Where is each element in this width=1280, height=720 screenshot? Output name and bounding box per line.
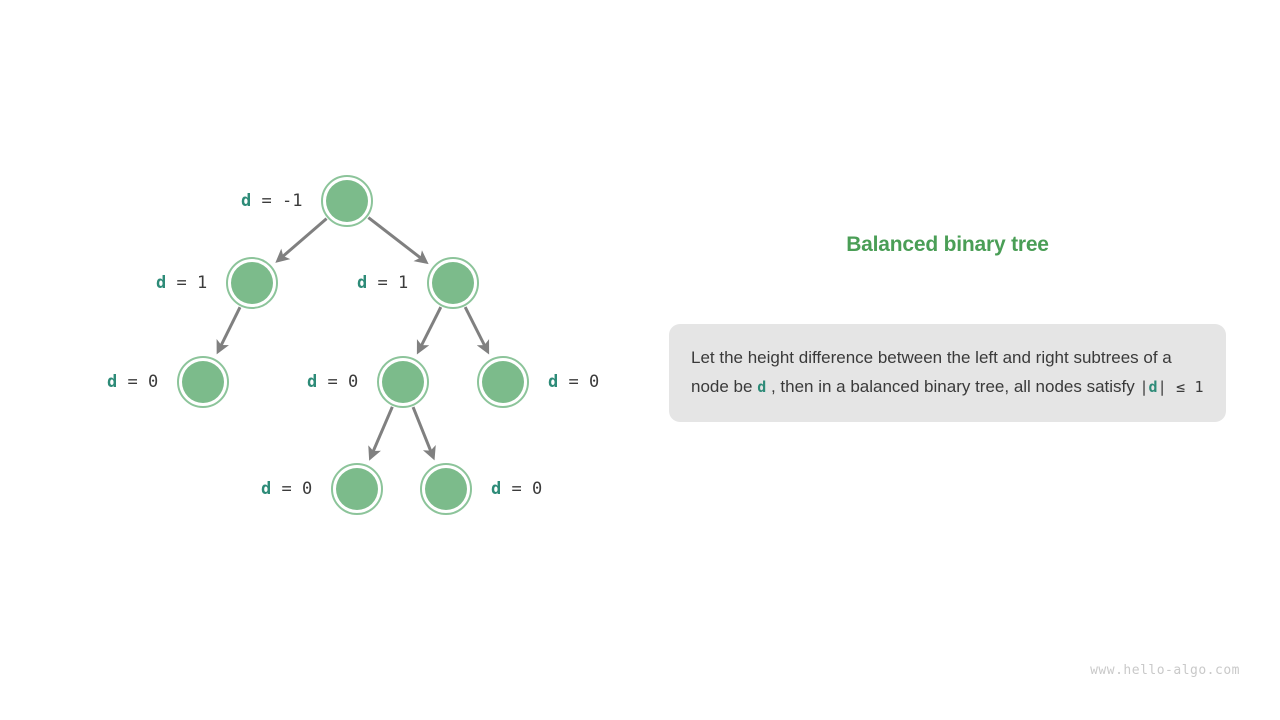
node-label-value: = 0 (317, 372, 358, 392)
tree-node (226, 257, 278, 309)
node-label-value: = 0 (558, 372, 599, 392)
tree-node (427, 257, 479, 309)
tree-node-label: d = 0 (107, 372, 158, 392)
node-label-variable: d (241, 191, 251, 211)
node-label-variable: d (548, 372, 558, 392)
node-label-value: = 0 (117, 372, 158, 392)
node-label-value: = -1 (251, 191, 302, 211)
page-title: Balanced binary tree (669, 233, 1226, 257)
node-label-variable: d (491, 479, 501, 499)
node-label-variable: d (307, 372, 317, 392)
site-watermark: www.hello-algo.com (1090, 663, 1240, 678)
tree-edge (419, 307, 441, 351)
node-label-variable: d (261, 479, 271, 499)
tree-edge (465, 307, 487, 351)
tree-edges (219, 218, 488, 457)
inequality-operator: ≤ (1176, 378, 1185, 396)
inequality-bound: 1 (1195, 378, 1204, 396)
tree-node (321, 175, 373, 227)
tree-node (477, 356, 529, 408)
description-panel: Let the height difference between the le… (669, 324, 1226, 422)
node-label-value: = 1 (166, 273, 207, 293)
tree-node-label: d = 0 (491, 479, 542, 499)
tree-node (177, 356, 229, 408)
tree-edge (219, 307, 240, 350)
abs-bar-close: | (1158, 378, 1167, 396)
description-sentence-part-2: , then in a balanced binary tree, all no… (766, 377, 1139, 396)
abs-bar-open: | (1140, 378, 1149, 396)
tree-edge (368, 218, 425, 262)
node-label-value: = 0 (501, 479, 542, 499)
variable-d-inline: d (757, 378, 766, 396)
tree-edge (278, 219, 326, 260)
tree-node-label: d = 0 (261, 479, 312, 499)
tree-node-label: d = -1 (241, 191, 302, 211)
variable-d-abs: d (1149, 378, 1158, 396)
node-label-variable: d (156, 273, 166, 293)
tree-edge (413, 407, 433, 456)
tree-node-label: d = 0 (548, 372, 599, 392)
node-label-variable: d (107, 372, 117, 392)
description-text: Let the height difference between the le… (691, 343, 1204, 402)
tree-node-label: d = 1 (357, 273, 408, 293)
tree-edge (371, 407, 393, 457)
tree-node-label: d = 1 (156, 273, 207, 293)
node-label-value: = 0 (271, 479, 312, 499)
tree-node (331, 463, 383, 515)
tree-node (420, 463, 472, 515)
node-label-value: = 1 (367, 273, 408, 293)
tree-node-label: d = 0 (307, 372, 358, 392)
tree-node (377, 356, 429, 408)
node-label-variable: d (357, 273, 367, 293)
